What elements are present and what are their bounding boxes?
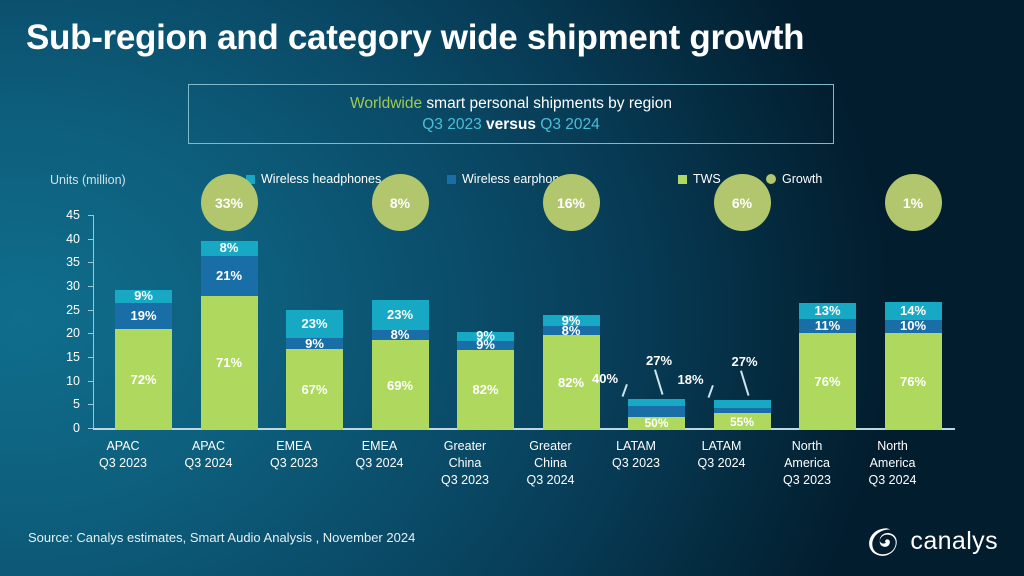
segment-tws[interactable]: 69% [372, 340, 429, 430]
growth-label: 1% [903, 195, 923, 211]
y-axis: 454035302520151050 [50, 215, 90, 430]
slide-canvas: Sub-region and category wide shipment gr… [0, 0, 1024, 576]
x-axis-label-line: Q3 2024 [510, 472, 592, 489]
segment-label-wireless-earphones: 11% [799, 319, 856, 332]
segment-label-tws: 76% [814, 375, 840, 388]
segment-label-tws: 72% [130, 373, 156, 386]
growth-label: 16% [557, 195, 585, 211]
x-axis-label-line: Q3 2023 [595, 455, 677, 472]
y-tick-label: 35 [66, 255, 80, 269]
y-tick-label: 20 [66, 326, 80, 340]
legend-item-wireless-headphones[interactable]: Wireless headphones [246, 172, 381, 186]
x-axis-label-greater-china-q32023: GreaterChinaQ3 2023 [424, 438, 506, 489]
legend-swatch-growth-icon [766, 174, 776, 184]
segment-label-wireless-earphones: 9% [286, 337, 343, 350]
segment-tws[interactable]: 72% [115, 329, 172, 430]
canalys-swirl-icon [867, 524, 901, 558]
segment-tws[interactable]: 55% [714, 413, 771, 430]
segment-label-tws: 69% [387, 379, 413, 392]
bar-group-emea-q32023[interactable]: 67%9%23% [286, 215, 343, 430]
bar-group-greater-china-q32024[interactable]: 82%8%9%16% [543, 215, 600, 430]
x-axis-label-line: LATAM [595, 438, 677, 455]
subtitle-line-1: Worldwide smart personal shipments by re… [350, 94, 672, 113]
subtitle-versus: versus [482, 116, 541, 133]
x-axis-label-line: Q3 2024 [681, 455, 763, 472]
legend-item-growth[interactable]: Growth [766, 172, 822, 186]
page-title: Sub-region and category wide shipment gr… [26, 18, 804, 58]
growth-label: 6% [732, 195, 752, 211]
bar-group-greater-china-q32023[interactable]: 82%9%9% [457, 215, 514, 430]
x-axis-label-line: Q3 2023 [424, 472, 506, 489]
segment-tws[interactable]: 71% [201, 296, 258, 430]
segment-label-wireless-earphones: 19% [115, 309, 172, 322]
subtitle-line-1-rest: smart personal shipments by region [422, 95, 672, 112]
segment-label-wireless-headphones: 8% [201, 241, 258, 254]
segment-label-wireless-headphones: 27% [646, 354, 672, 367]
x-axis-label-line: APAC [82, 438, 164, 455]
x-axis-label-line: China [510, 455, 592, 472]
x-axis-label-line: Q3 2024 [852, 472, 934, 489]
y-tick-label: 45 [66, 208, 80, 222]
legend-swatch-wireless-earphones-icon [447, 175, 456, 184]
segment-label-wireless-earphones: 8% [372, 328, 429, 341]
y-tick-label: 40 [66, 232, 80, 246]
segment-tws[interactable]: 50% [628, 417, 685, 430]
x-axis-label-line: EMEA [253, 438, 335, 455]
legend-item-tws[interactable]: TWS [678, 172, 721, 186]
leader-line [622, 384, 628, 397]
segment-label-tws: 50% [644, 417, 668, 429]
x-axis-label-line: Q3 2023 [766, 472, 848, 489]
bar-group-latam-q32023[interactable]: 50%40%27% [628, 215, 685, 430]
segment-label-wireless-headphones: 9% [457, 329, 514, 342]
segment-label-wireless-earphones: 10% [885, 319, 942, 332]
x-axis-label-line: America [766, 455, 848, 472]
segment-label-wireless-headphones: 9% [543, 314, 600, 327]
subtitle-box: Worldwide smart personal shipments by re… [188, 84, 834, 144]
y-tick-label: 5 [73, 397, 80, 411]
x-axis-label-line: Q3 2024 [339, 455, 421, 472]
legend-label: TWS [693, 172, 721, 186]
subtitle-line-2: Q3 2023 versus Q3 2024 [422, 115, 600, 134]
canalys-logo: canalys [867, 524, 998, 558]
leader-line [707, 385, 713, 398]
segment-label-tws: 82% [472, 383, 498, 396]
x-axis-label-line: Greater [510, 438, 592, 455]
segment-label-wireless-earphones: 21% [201, 269, 258, 282]
x-axis-label-north-america-q32023: NorthAmericaQ3 2023 [766, 438, 848, 489]
x-axis-label-line: America [852, 455, 934, 472]
segment-wireless-earphones[interactable] [628, 406, 685, 416]
segment-label-wireless-earphones: 18% [678, 373, 704, 386]
x-axis-label-latam-q32023: LATAMQ3 2023 [595, 438, 677, 472]
growth-label: 8% [390, 195, 410, 211]
legend-swatch-tws-icon [678, 175, 687, 184]
segment-wireless-headphones[interactable] [628, 399, 685, 406]
bar-group-apac-q32024[interactable]: 71%21%8%33% [201, 215, 258, 430]
bar-group-latam-q32024[interactable]: 55%18%27%6% [714, 215, 771, 430]
leader-line [654, 370, 663, 395]
x-axis-label-emea-q32023: EMEAQ3 2023 [253, 438, 335, 472]
x-axis-label-latam-q32024: LATAMQ3 2024 [681, 438, 763, 472]
segment-tws[interactable]: 82% [543, 335, 600, 430]
bars-container: 72%19%9%71%21%8%33%67%9%23%69%8%23%8%82%… [94, 215, 955, 430]
x-axis-label-line: EMEA [339, 438, 421, 455]
bar-group-emea-q32024[interactable]: 69%8%23%8% [372, 215, 429, 430]
segment-label-wireless-headphones: 27% [732, 355, 758, 368]
y-tick-label: 0 [73, 421, 80, 435]
y-tick-label: 25 [66, 303, 80, 317]
segment-label-tws: 71% [216, 356, 242, 369]
source-note: Source: Canalys estimates, Smart Audio A… [28, 530, 415, 545]
x-axis-label-emea-q32024: EMEAQ3 2024 [339, 438, 421, 472]
growth-bubble[interactable]: 6% [714, 174, 771, 231]
subtitle-q3-2023: Q3 2023 [422, 116, 481, 133]
segment-tws[interactable]: 67% [286, 349, 343, 430]
x-axis-label-line: North [852, 438, 934, 455]
segment-wireless-earphones[interactable] [714, 408, 771, 413]
x-axis-label-line: LATAM [681, 438, 763, 455]
x-axis-label-line: Q3 2023 [82, 455, 164, 472]
x-axis-labels: APACQ3 2023APACQ3 2024EMEAQ3 2023EMEAQ3 … [94, 438, 955, 500]
segment-label-wireless-headphones: 13% [799, 304, 856, 317]
legend-label: Wireless headphones [261, 172, 381, 186]
segment-label-tws: 76% [900, 375, 926, 388]
segment-label-tws: 55% [730, 416, 754, 428]
segment-label-wireless-headphones: 23% [372, 308, 429, 321]
growth-label: 33% [215, 195, 243, 211]
growth-bubble[interactable]: 16% [543, 174, 600, 231]
growth-bubble[interactable]: 33% [201, 174, 258, 231]
segment-label-wireless-headphones: 14% [885, 304, 942, 317]
segment-label-wireless-headphones: 9% [115, 289, 172, 302]
y-tick-label: 10 [66, 374, 80, 388]
segment-tws[interactable]: 76% [799, 333, 856, 430]
logo-text: canalys [910, 527, 998, 556]
x-axis-label-line: APAC [168, 438, 250, 455]
x-axis-label-apac-q32024: APACQ3 2024 [168, 438, 250, 472]
x-axis-label-line: North [766, 438, 848, 455]
x-axis-label-line: Q3 2024 [168, 455, 250, 472]
growth-bubble[interactable]: 8% [372, 174, 429, 231]
segment-label-tws: 82% [558, 376, 584, 389]
y-tick-label: 15 [66, 350, 80, 364]
segment-label-wireless-earphones: 40% [592, 372, 618, 385]
units-label: Units (million) [50, 173, 126, 187]
segment-tws[interactable]: 76% [885, 333, 942, 431]
segment-wireless-headphones[interactable] [714, 400, 771, 408]
subtitle-worldwide: Worldwide [350, 95, 422, 112]
bar-group-north-america-q32024[interactable]: 76%10%14%1% [885, 215, 942, 430]
growth-bubble[interactable]: 1% [885, 174, 942, 231]
leader-line [740, 371, 749, 396]
x-axis-label-apac-q32023: APACQ3 2023 [82, 438, 164, 472]
y-tick-label: 30 [66, 279, 80, 293]
x-axis-label-north-america-q32024: NorthAmericaQ3 2024 [852, 438, 934, 489]
x-axis-label-line: China [424, 455, 506, 472]
segment-label-wireless-headphones: 23% [286, 317, 343, 330]
segment-label-tws: 67% [301, 383, 327, 396]
segment-tws[interactable]: 82% [457, 350, 514, 430]
x-axis-label-line: Q3 2023 [253, 455, 335, 472]
x-axis-label-line: Greater [424, 438, 506, 455]
subtitle-q3-2024: Q3 2024 [540, 116, 599, 133]
x-axis-label-greater-china-q32024: GreaterChinaQ3 2024 [510, 438, 592, 489]
chart-plot-area: 454035302520151050 72%19%9%71%21%8%33%67… [50, 215, 955, 430]
bar-group-apac-q32023[interactable]: 72%19%9% [115, 215, 172, 430]
bar-group-north-america-q32023[interactable]: 76%11%13% [799, 215, 856, 430]
legend-label: Growth [782, 172, 822, 186]
